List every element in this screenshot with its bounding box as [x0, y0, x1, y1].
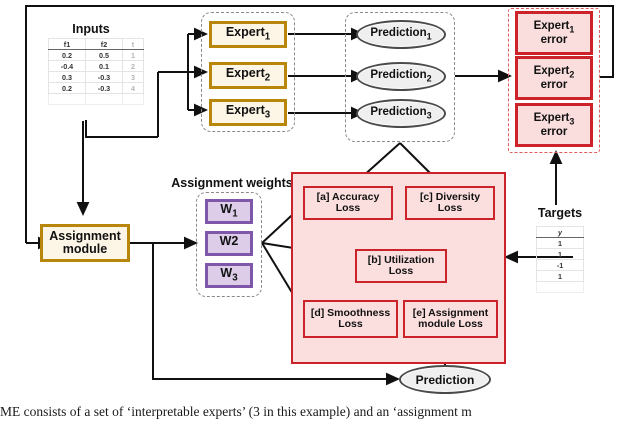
expert-2-error-suffix: error — [541, 79, 568, 91]
table-row: 1 — [537, 271, 584, 282]
inputs-label: Inputs — [46, 22, 136, 36]
final-prediction-label: Prediction — [416, 373, 475, 387]
expert-2-error-label: Expert — [534, 65, 570, 77]
expert-3-error-box[interactable]: Expert3 error — [515, 103, 593, 147]
prediction-2-index: 2 — [427, 74, 432, 84]
prediction-1-node[interactable]: Prediction1 — [356, 20, 446, 49]
expert-3-index: 3 — [265, 110, 270, 121]
expert-1-label: Expert — [226, 25, 265, 39]
weight-2-label: W2 — [220, 234, 239, 248]
diversity-loss-box[interactable]: [c] Diversity Loss — [405, 186, 495, 220]
assignment-module-loss-box[interactable]: [e] Assignment module Loss — [403, 300, 498, 338]
targets-label: Targets — [521, 206, 599, 220]
prediction-2-node[interactable]: Prediction2 — [356, 62, 446, 91]
expert-1-error-label: Expert — [534, 20, 570, 32]
cell-f1: 0.2 — [49, 83, 86, 94]
targets-header-y: y — [537, 227, 584, 238]
weight-1-box[interactable]: W1 — [205, 199, 253, 224]
inputs-table: f1 f2 t 0.2 0.5 1 -0.4 0.1 2 0.3 -0.3 3 — [48, 38, 144, 105]
prediction-2-label: Prediction — [370, 69, 426, 81]
assignment-module-line2: module — [63, 243, 107, 256]
expert-2-error-index: 2 — [569, 69, 574, 79]
table-row: 0.3 -0.3 3 — [49, 72, 144, 83]
expert-3-error-label: Expert — [534, 112, 570, 124]
expert-2-error-box[interactable]: Expert2 error — [515, 56, 593, 100]
cell-y: 1 — [537, 238, 584, 249]
weight-1-label: W — [220, 202, 232, 216]
assignment-module-box[interactable]: Assignment module — [40, 224, 130, 262]
weight-2-box[interactable]: W2 — [205, 231, 253, 256]
table-row: -0.4 0.1 2 — [49, 61, 144, 72]
cell-f1: 0.3 — [49, 72, 86, 83]
expert-3-error-index: 3 — [569, 116, 574, 126]
inputs-header-f1: f1 — [49, 39, 86, 50]
prediction-1-index: 1 — [427, 32, 432, 42]
diagram-canvas: Inputs Assignment weights Targets f1 f2 … — [0, 0, 640, 429]
assignment-loss-line2: module Loss — [418, 319, 483, 330]
cell-t: 1 — [123, 50, 144, 61]
accuracy-loss-box[interactable]: [a] Accuracy Loss — [303, 186, 393, 220]
table-row: -1 — [537, 260, 584, 271]
expert-2-box[interactable]: Expert2 — [209, 62, 287, 89]
cell-f1: -0.4 — [49, 61, 86, 72]
cell-f1: 0.2 — [49, 50, 86, 61]
cell-y: 1 — [537, 249, 584, 260]
table-row: 0.2 0.5 1 — [49, 50, 144, 61]
diversity-loss-line2: Loss — [438, 203, 463, 214]
table-row-blank: . — [537, 282, 584, 293]
expert-2-index: 2 — [265, 73, 270, 84]
cell-y: 1 — [537, 271, 584, 282]
cell-f2: 0.1 — [86, 61, 123, 72]
cell-y: -1 — [537, 260, 584, 271]
prediction-3-node[interactable]: Prediction3 — [356, 99, 446, 128]
smoothness-loss-line2: Loss — [338, 319, 363, 330]
expert-1-index: 1 — [265, 32, 270, 43]
accuracy-loss-line2: Loss — [336, 203, 361, 214]
prediction-1-label: Prediction — [370, 27, 426, 39]
targets-table: y 1 1 -1 1 . — [536, 226, 584, 293]
smoothness-loss-box[interactable]: [d] Smoothness Loss — [303, 300, 398, 338]
cell-f2: -0.3 — [86, 83, 123, 94]
weight-1-index: 1 — [232, 209, 237, 220]
expert-3-label: Expert — [226, 103, 265, 117]
utilization-loss-box[interactable]: [b] Utilization Loss — [355, 249, 447, 283]
expert-1-box[interactable]: Expert1 — [209, 21, 287, 48]
expert-1-error-box[interactable]: Expert1 error — [515, 11, 593, 55]
weight-3-index: 3 — [232, 273, 237, 284]
final-prediction-node[interactable]: Prediction — [399, 365, 491, 394]
prediction-3-label: Prediction — [370, 106, 426, 118]
table-row-blank: ... — [49, 94, 144, 105]
inputs-header-t: t — [123, 39, 144, 50]
inputs-header-f2: f2 — [86, 39, 123, 50]
table-row: 1 — [537, 238, 584, 249]
cell-t: 2 — [123, 61, 144, 72]
expert-2-label: Expert — [226, 66, 265, 80]
expert-1-error-suffix: error — [541, 34, 568, 46]
expert-3-box[interactable]: Expert3 — [209, 99, 287, 126]
cell-t: 3 — [123, 72, 144, 83]
utilization-loss-line2: Loss — [389, 266, 414, 277]
weight-3-box[interactable]: W3 — [205, 263, 253, 288]
cell-f2: 0.5 — [86, 50, 123, 61]
weight-3-label: W — [220, 266, 232, 280]
table-row: 0.2 -0.3 4 — [49, 83, 144, 94]
expert-1-error-index: 1 — [569, 24, 574, 34]
figure-caption: ME consists of a set of ‘interpretable e… — [0, 404, 640, 420]
table-row: 1 — [537, 249, 584, 260]
cell-t: 4 — [123, 83, 144, 94]
cell-f2: -0.3 — [86, 72, 123, 83]
expert-3-error-suffix: error — [541, 126, 568, 138]
prediction-3-index: 3 — [427, 111, 432, 121]
